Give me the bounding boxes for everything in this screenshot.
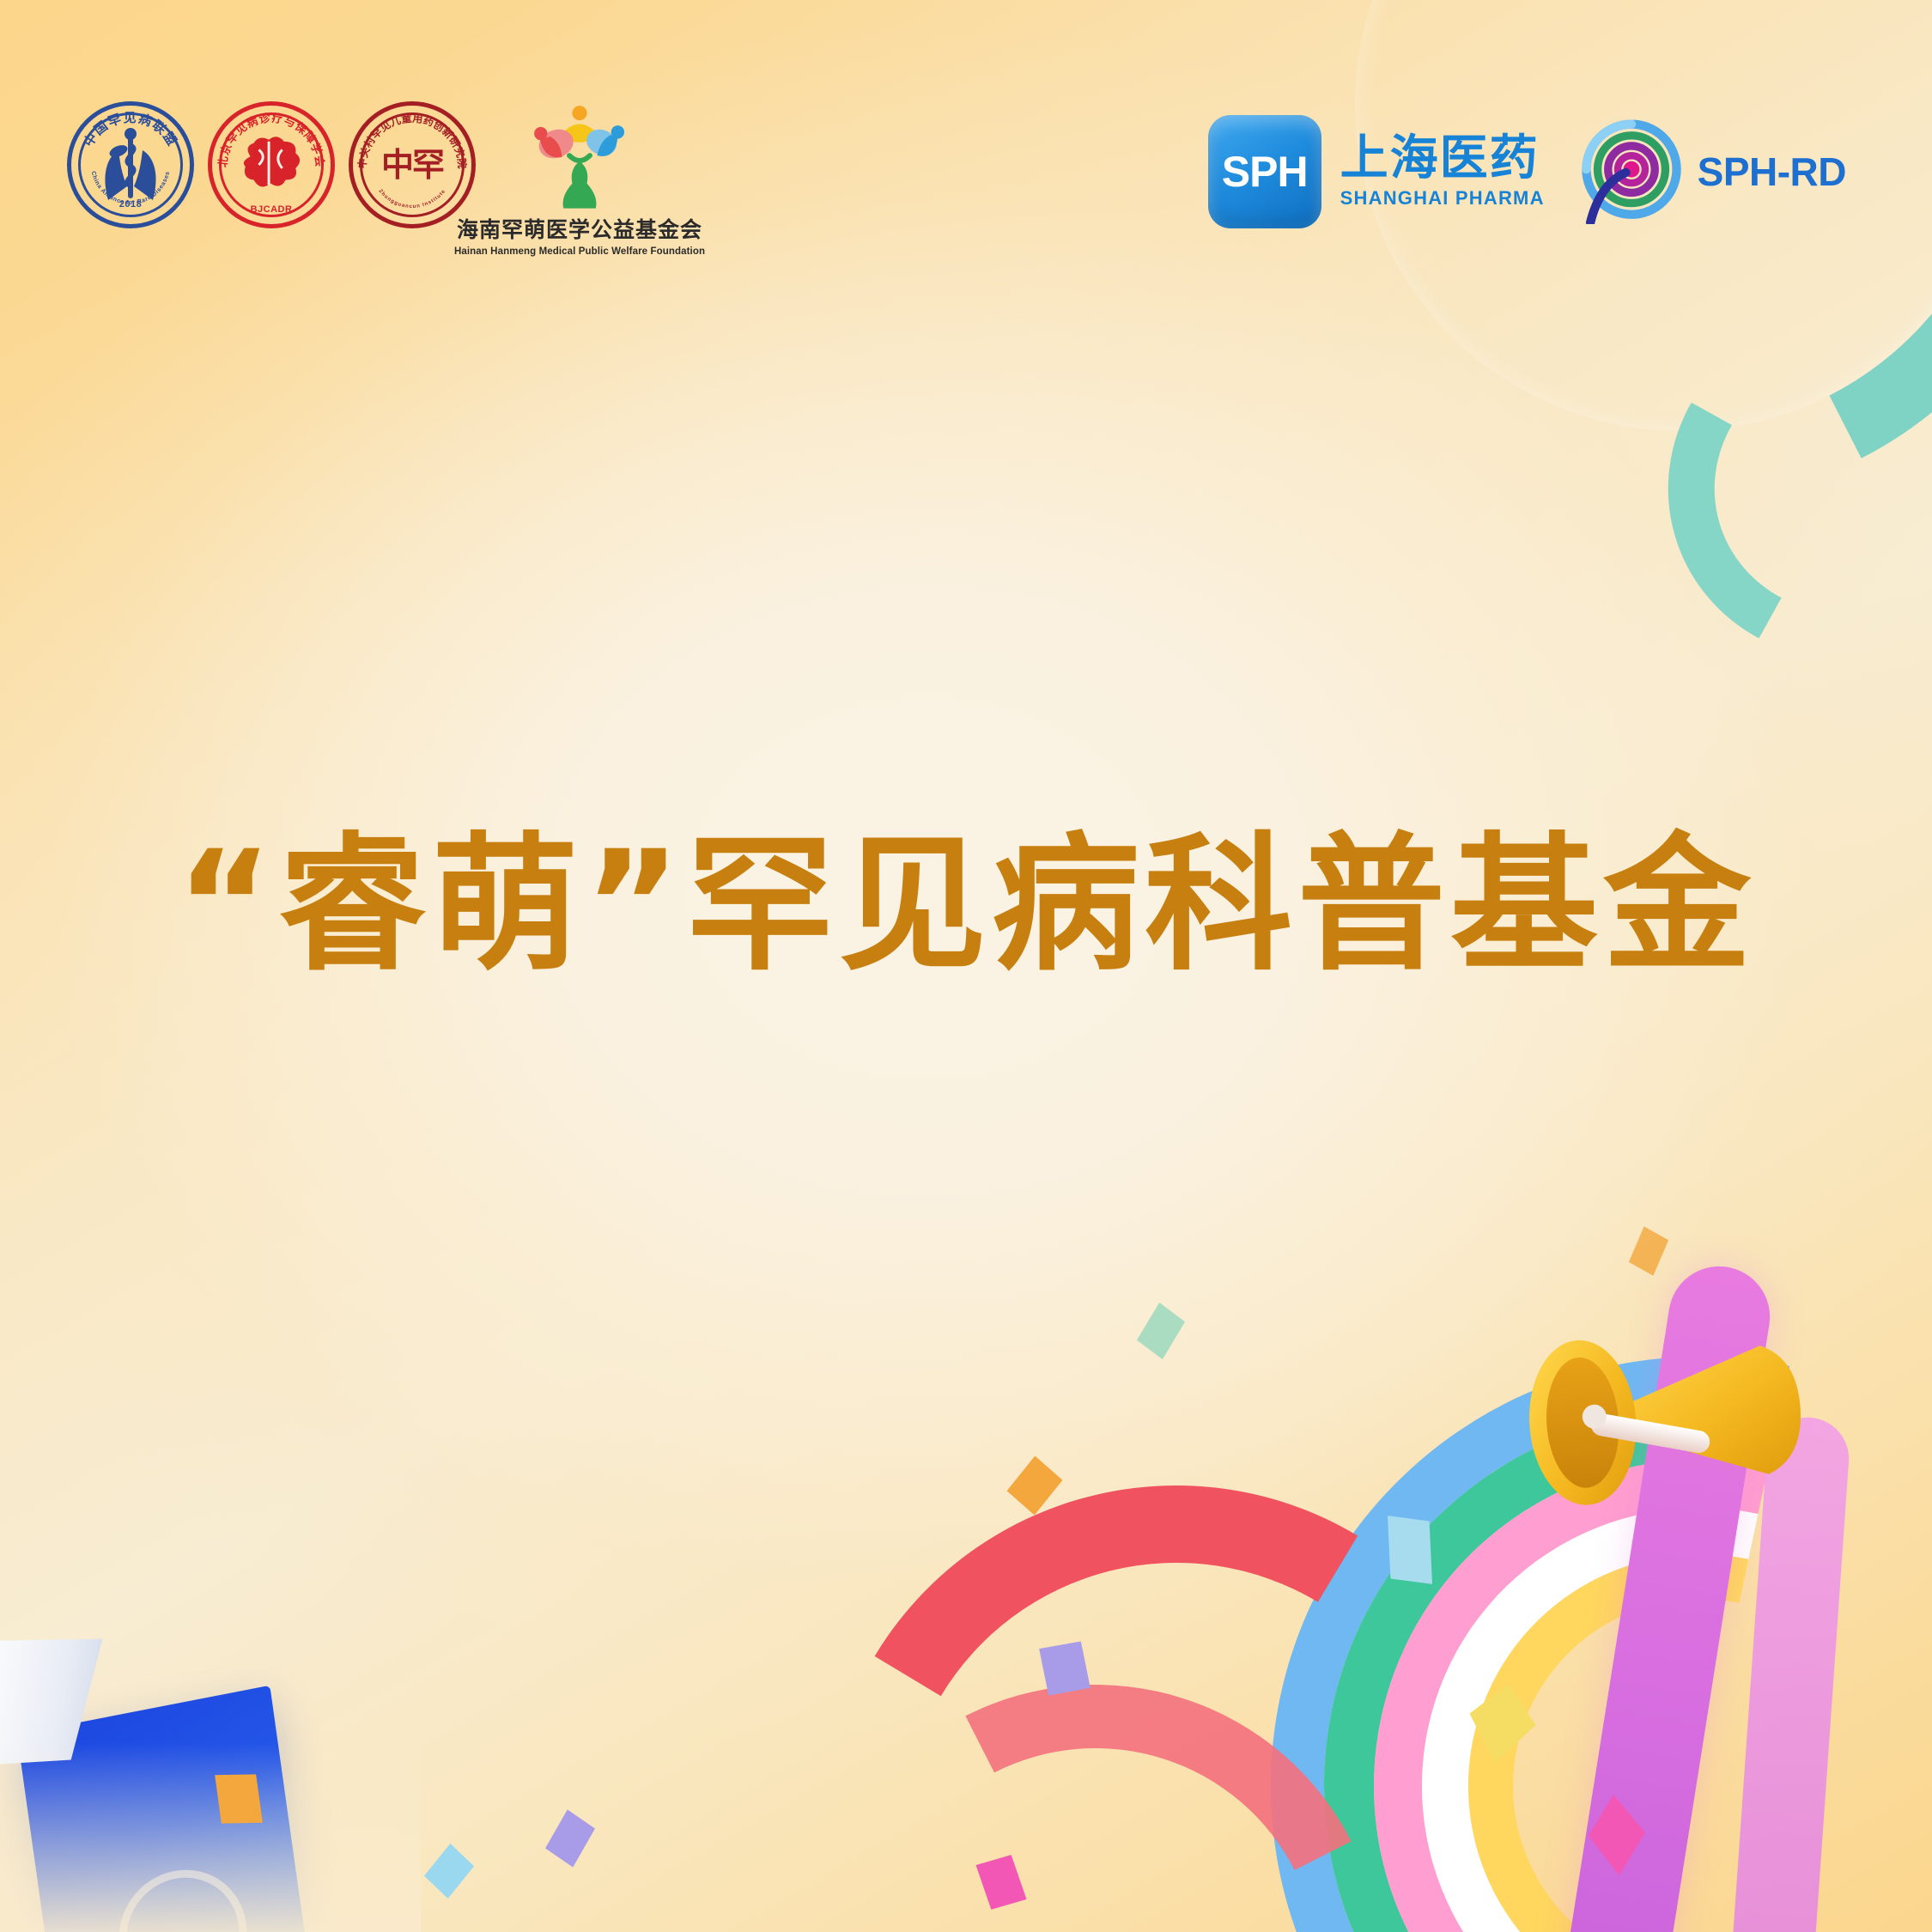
poster-canvas: 中国罕见病联盟 China Alliance for Rare Diseases… xyxy=(0,0,1932,1932)
confetti-piece xyxy=(1030,1632,1100,1705)
rainbow-ring-green xyxy=(1180,1266,1932,1932)
teal-ribbon-arc xyxy=(1182,0,1932,605)
logo-shanghai-pharma: SPH 上海医药 SHANGHAI PHARMA xyxy=(1208,115,1545,228)
violet-ribbon-band xyxy=(1556,1259,1777,1932)
rainbow-ring-pink xyxy=(1249,1334,1932,1932)
confetti-piece xyxy=(1376,1506,1444,1594)
confetti-piece xyxy=(968,1847,1034,1917)
hainan-tree-people-icon xyxy=(528,101,631,211)
confetti-piece xyxy=(543,1807,598,1870)
rainbow-ring-yellow xyxy=(1380,1466,1932,1932)
hainan-logo-cn: 海南罕萌医学公益基金会 xyxy=(457,213,702,244)
sph-badge-label: SPH xyxy=(1222,147,1308,197)
sph-name-cn: 上海医药 xyxy=(1340,134,1545,182)
page-title: “睿萌”罕见病科普基金 xyxy=(0,820,1932,990)
teal-ribbon-highlight xyxy=(1358,0,1932,514)
logo-china-alliance-rare-diseases: 中国罕见病联盟 China Alliance for Rare Diseases… xyxy=(67,101,194,228)
teal-ribbon-tail xyxy=(1626,265,1932,703)
violet-ribbon-band-2 xyxy=(1724,1415,1852,1932)
confetti-piece xyxy=(420,1840,478,1903)
confetti-piece xyxy=(1627,1224,1670,1277)
confetti-piece xyxy=(1133,1300,1188,1362)
hainan-logo-en: Hainan Hanmeng Medical Public Welfare Fo… xyxy=(454,246,705,257)
confetti-piece xyxy=(1003,1453,1066,1519)
certificate-card xyxy=(17,1686,309,1932)
confetti-piece xyxy=(207,1763,271,1835)
partner-logos-left: 中国罕见病联盟 China Alliance for Rare Diseases… xyxy=(67,101,670,257)
logo-bjcadr: 北京罕见病诊疗与保障学会 BJCADR xyxy=(208,101,335,228)
sph-rd-spiral-icon xyxy=(1579,119,1684,224)
sph-badge: SPH xyxy=(1208,115,1321,228)
seal-center-chars: 中罕 xyxy=(374,127,450,203)
confetti-piece xyxy=(1461,1678,1541,1769)
brain-icon xyxy=(234,127,309,203)
seal-year: 2018 xyxy=(67,199,194,210)
sph-rd-label: SPH-RD xyxy=(1698,149,1846,195)
seal-abbrev: BJCADR xyxy=(208,204,335,215)
coral-arc xyxy=(750,1411,1603,1932)
certificate-fold xyxy=(0,1599,123,1784)
megaphone-icon xyxy=(1473,1275,1859,1558)
sph-name-en: SHANGHAI PHARMA xyxy=(1340,187,1545,210)
coral-arc-secondary xyxy=(734,1610,1457,1932)
certificate-fade-mask xyxy=(0,1743,421,1932)
rainbow-ring-white xyxy=(1315,1401,1932,1932)
rainbow-rings-decoration xyxy=(1215,1301,1932,1932)
rainbow-ring-blue xyxy=(1106,1192,1932,1932)
partner-logos-right: SPH 上海医药 SHANGHAI PHARMA SPH-RD xyxy=(1208,115,1846,228)
caduceus-icon xyxy=(93,127,168,203)
confetti-piece xyxy=(1583,1791,1650,1879)
logo-sph-rd: SPH-RD xyxy=(1579,119,1846,224)
logo-hainan-hanmeng-foundation: 海南罕萌医学公益基金会 Hainan Hanmeng Medical Publi… xyxy=(489,101,670,257)
logo-zhongguancun-institute: 中关村罕见儿童用药创新研究院 Zhongguancun Institute 中罕 xyxy=(349,101,476,228)
